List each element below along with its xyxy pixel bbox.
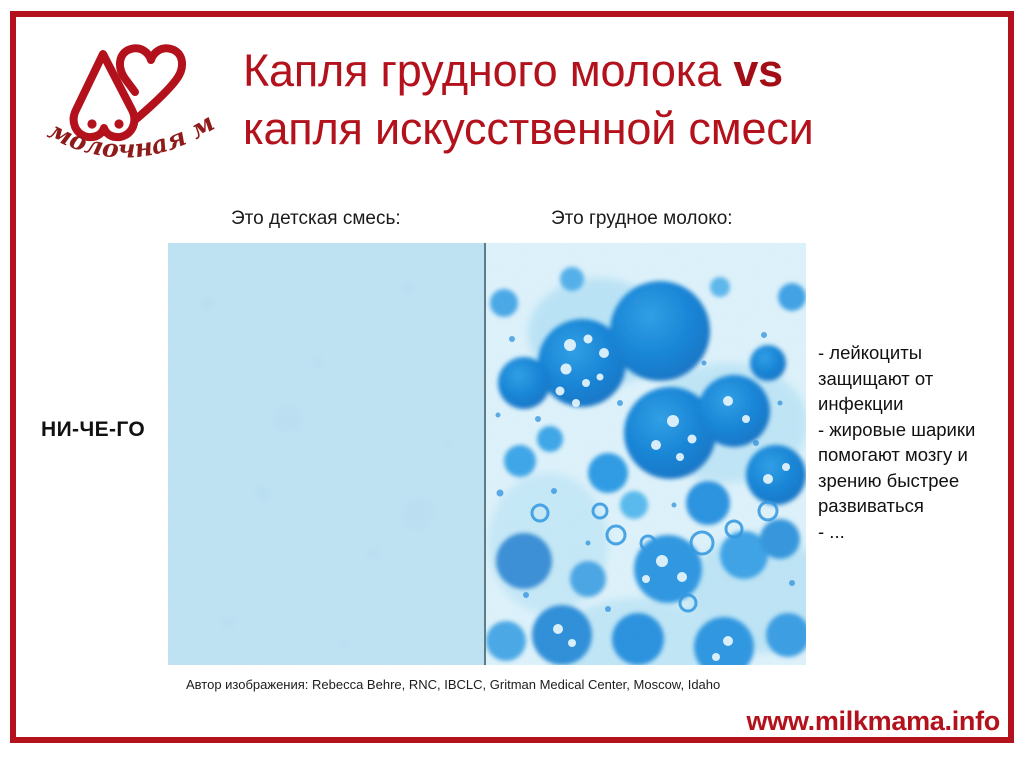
list-item: - ... [818, 519, 1008, 545]
nipple-dot-right [114, 119, 123, 128]
list-item: защищают от [818, 366, 1008, 392]
column-label-formula: Это детская смесь: [231, 208, 401, 230]
micrograph-divider-line [484, 243, 486, 665]
frame-border-bottom [10, 737, 1014, 743]
list-item: - жировые шарики [818, 417, 1008, 443]
footer-website-url[interactable]: www.milkmama.info [747, 706, 1000, 737]
formula-verdict-label: НИ-ЧЕ-ГО [41, 418, 145, 442]
list-item: помогают мозгу и [818, 442, 1008, 468]
title-line-2: капля искусственной смеси [243, 100, 1018, 158]
title-text-before-vs: Капля грудного молока [243, 45, 733, 96]
list-item: инфекции [818, 391, 1008, 417]
list-item: развиваться [818, 493, 1008, 519]
page-title: Капля грудного молока vs капля искусстве… [243, 42, 1018, 158]
list-item: зрению быстрее [818, 468, 1008, 494]
frame-border-top [10, 11, 1014, 17]
benefits-list: - лейкоциты защищают от инфекции - жиров… [818, 340, 1008, 544]
image-credit: Автор изображения: Rebecca Behre, RNC, I… [186, 677, 720, 692]
nipple-dot-left [87, 119, 96, 128]
brand-logo: молочная мама [26, 32, 226, 172]
title-vs-token: vs [733, 45, 783, 96]
breastmilk-field [486, 243, 806, 665]
micrograph-image [168, 243, 806, 665]
title-line-1: Капля грудного молока vs [243, 45, 783, 96]
column-label-breastmilk: Это грудное молоко: [551, 208, 733, 230]
frame-border-left [10, 11, 16, 743]
list-item: - лейкоциты [818, 340, 1008, 366]
slide-root: молочная мама Капля грудного молока vs к… [0, 0, 1024, 767]
